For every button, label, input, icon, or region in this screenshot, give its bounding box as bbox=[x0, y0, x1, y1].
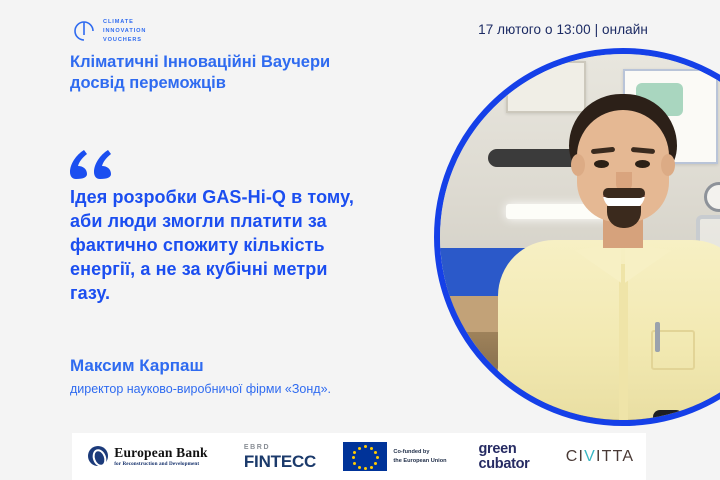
eu-flag-icon bbox=[343, 442, 387, 471]
green-cubator-line-2: cubator bbox=[478, 457, 529, 472]
eu-cofunded-line-2: the European Union bbox=[393, 458, 446, 464]
author-role: директор науково-виробничої фірми «Зонд»… bbox=[70, 381, 350, 398]
civitta-part-2: V bbox=[584, 448, 596, 465]
page-title: Кліматичні Інноваційні Ваучери досвід пе… bbox=[70, 52, 410, 94]
ebrd-subtitle: for Reconstruction and Development bbox=[114, 462, 208, 467]
eu-cofunded-logo: Co-funded by the European Union bbox=[336, 433, 454, 480]
speaker-photo bbox=[434, 48, 720, 426]
quotation-mark-icon bbox=[70, 150, 114, 180]
mustache bbox=[603, 188, 645, 198]
partner-logo-bar: European Bank for Reconstruction and Dev… bbox=[72, 433, 646, 480]
civitta-part-3: ITTA bbox=[596, 448, 634, 465]
presentation-slide: CLIMATE INNOVATION VOUCHERS 17 лютого о … bbox=[0, 0, 720, 480]
brand-line-1: CLIMATE bbox=[103, 18, 146, 26]
shirt-placket bbox=[619, 264, 628, 420]
pen-icon bbox=[655, 322, 660, 352]
circle-arc-icon bbox=[72, 19, 96, 43]
civitta-logo: CIVITTA bbox=[554, 433, 646, 480]
climate-innovation-vouchers-logo: CLIMATE INNOVATION VOUCHERS bbox=[72, 18, 146, 44]
brand-line-3: VOUCHERS bbox=[103, 36, 146, 44]
page-title-line-1: Кліматичні Інноваційні Ваучери bbox=[70, 52, 410, 73]
civitta-part-1: CI bbox=[566, 448, 584, 465]
quote-text: Ідея розробки GAS-Hi-Q в тому, аби люди … bbox=[70, 186, 370, 306]
ebrd-logo: European Bank for Reconstruction and Dev… bbox=[72, 433, 224, 480]
wristwatch bbox=[653, 410, 683, 420]
green-cubator-logo: green cubator bbox=[454, 433, 554, 480]
brand-line-2: INNOVATION bbox=[103, 27, 146, 35]
fintecc-eyebrow: EBRD bbox=[244, 444, 316, 451]
eye bbox=[594, 160, 609, 168]
speaker-figure bbox=[440, 94, 720, 420]
ebrd-title: European Bank bbox=[114, 446, 208, 460]
page-title-line-2: досвід переможців bbox=[70, 73, 410, 94]
fintecc-wordmark: FINTECC bbox=[244, 453, 316, 470]
event-datetime: 17 лютого о 13:00 | онлайн bbox=[478, 22, 648, 37]
speaker-photo-image bbox=[440, 54, 720, 420]
ebrd-emblem-icon bbox=[88, 446, 108, 466]
fintecc-logo: EBRD FINTECC bbox=[224, 433, 336, 480]
eu-cofunded-line-1: Co-funded by bbox=[393, 449, 429, 455]
eye bbox=[635, 160, 650, 168]
ear bbox=[661, 154, 675, 176]
author-name: Максим Карпаш bbox=[70, 356, 204, 376]
ear bbox=[571, 154, 585, 176]
green-cubator-line-1: green bbox=[478, 442, 529, 457]
